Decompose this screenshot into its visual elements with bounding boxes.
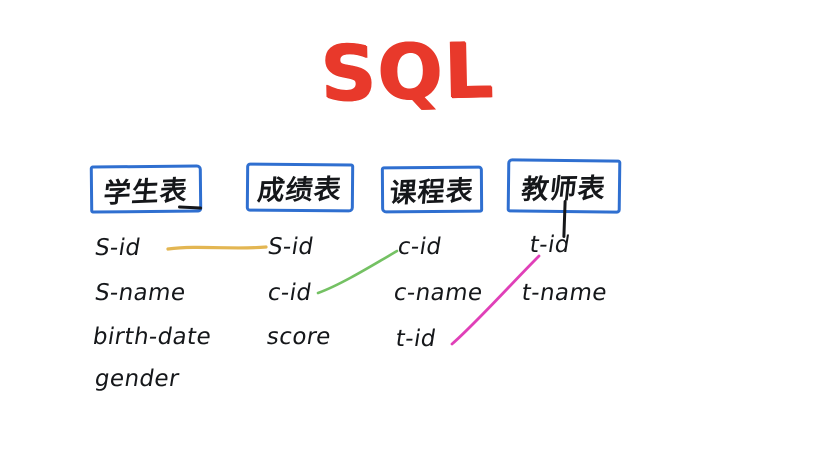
field-score-s-id: S-id [266,234,316,260]
field-score-c-id: c-id [266,280,314,306]
field-course-c-id: c-id [396,234,444,260]
field-score-score: score [265,324,333,350]
field-course-c-name: c-name [392,280,485,306]
field-student-s-name: S-name [93,280,188,306]
relation-line-student-score-sid [168,247,266,249]
field-student-s-id: S-id [93,235,143,261]
field-student-birth-date: birth-date [91,324,213,350]
field-course-t-id: t-id [394,326,438,352]
field-teacher-t-name: t-name [520,280,609,306]
whiteboard-canvas: SQL 学生表 S-id S-name birth-date gender 成绩… [0,0,816,468]
relation-line-score-course-cid [318,251,397,293]
table-header-label: 成绩表 [256,167,344,207]
page-title: SQL [0,25,816,118]
field-teacher-t-id: t-id [528,232,572,258]
table-header-course[interactable]: 课程表 [381,166,483,214]
field-student-gender: gender [93,366,181,392]
table-header-score[interactable]: 成绩表 [246,163,354,213]
table-header-label: 课程表 [388,169,476,211]
table-header-label: 学生表 [102,168,190,210]
